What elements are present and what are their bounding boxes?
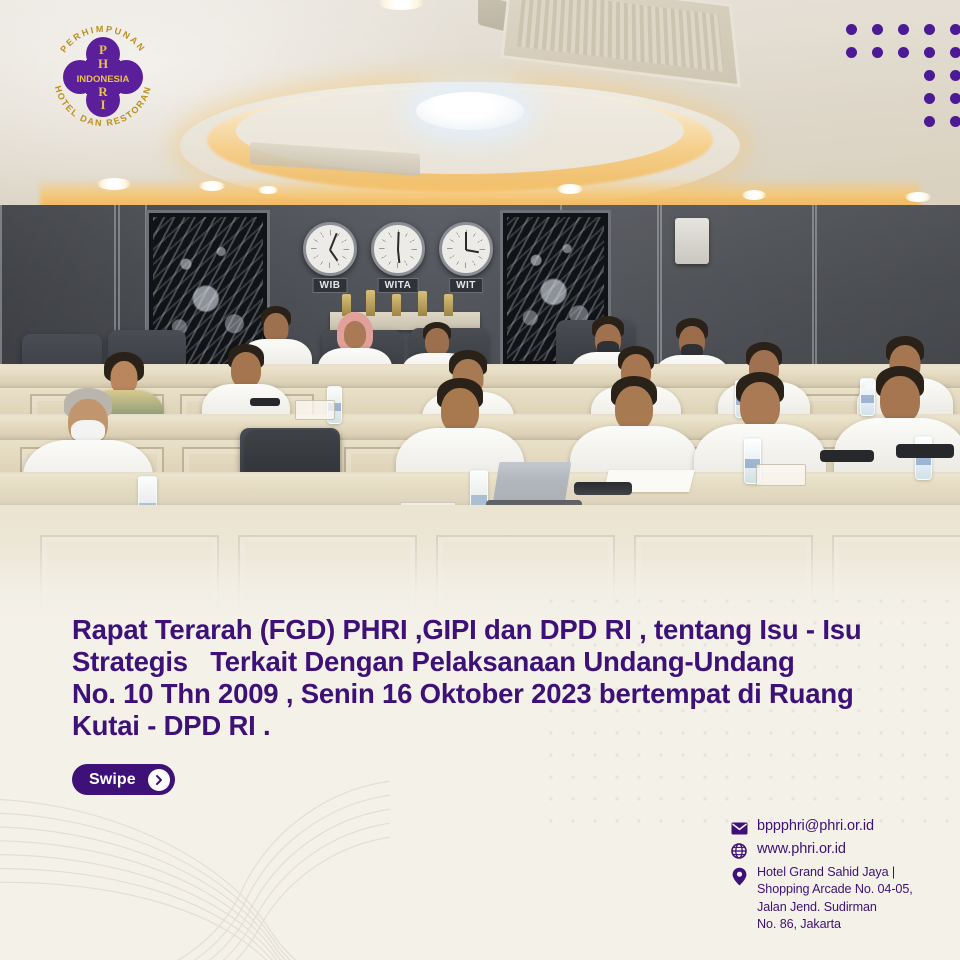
downlight bbox=[905, 192, 931, 202]
title-line: No. 10 Thn 2009 , Senin 16 Oktober 2023 … bbox=[72, 678, 902, 710]
clock-wib: WIB bbox=[303, 222, 357, 276]
background-swirl-pattern bbox=[0, 760, 390, 960]
trophy bbox=[366, 290, 375, 316]
clock-label: WIT bbox=[449, 278, 483, 293]
logo-letter-p: P bbox=[99, 42, 107, 57]
trophy bbox=[444, 294, 453, 316]
trophy bbox=[392, 294, 401, 316]
dot bbox=[950, 47, 960, 58]
dot bbox=[898, 47, 909, 58]
downlight bbox=[258, 186, 278, 194]
contact-email-text: bppphri@phri.or.id bbox=[757, 818, 874, 835]
head bbox=[615, 386, 653, 431]
title-line: Rapat Terarah (FGD) PHRI ,GIPI dan DPD R… bbox=[72, 614, 902, 646]
contact-info: bppphri@phri.or.id www.phri.or.id bbox=[730, 818, 950, 938]
microphone bbox=[250, 398, 280, 406]
clock-face bbox=[371, 222, 425, 276]
address-line: No. 86, Jakarta bbox=[757, 917, 841, 931]
water-bottle bbox=[860, 378, 875, 416]
clock-wita: WITA bbox=[371, 222, 425, 276]
logo-letter-h: H bbox=[98, 56, 108, 71]
address-line: Jalan Jend. Sudirman bbox=[757, 900, 877, 914]
clock-face bbox=[303, 222, 357, 276]
minute-hand bbox=[465, 232, 467, 250]
wall-speaker bbox=[675, 218, 709, 264]
content-area: Rapat Terarah (FGD) PHRI ,GIPI dan DPD R… bbox=[0, 590, 960, 960]
clock-wit: WIT bbox=[439, 222, 493, 276]
title-line: Kutai - DPD RI . bbox=[72, 710, 902, 742]
clock-label: WIB bbox=[313, 278, 348, 293]
page-title: Rapat Terarah (FGD) PHRI ,GIPI dan DPD R… bbox=[72, 614, 902, 742]
downlight bbox=[742, 190, 766, 200]
ceiling-lamp bbox=[416, 92, 524, 130]
contact-email-row[interactable]: bppphri@phri.or.id bbox=[730, 818, 950, 837]
microphone bbox=[896, 444, 954, 458]
clock-face bbox=[439, 222, 493, 276]
dot bbox=[872, 24, 883, 35]
phri-logo: P H INDONESIA R I PERHIMPUNAN HOTEL DAN … bbox=[44, 18, 162, 136]
head bbox=[231, 352, 261, 388]
dot bbox=[872, 47, 883, 58]
face-mask bbox=[71, 420, 105, 442]
snack-box bbox=[295, 400, 335, 420]
dot bbox=[950, 93, 960, 104]
dot bbox=[924, 47, 935, 58]
envelope-icon bbox=[730, 819, 748, 837]
social-media-poster: WIB WITA WIT bbox=[0, 0, 960, 960]
head bbox=[441, 388, 479, 433]
dot bbox=[846, 47, 857, 58]
ac-vent bbox=[500, 0, 741, 88]
swipe-button[interactable]: Swipe bbox=[72, 764, 175, 795]
head bbox=[344, 321, 366, 348]
clock-label: WITA bbox=[378, 278, 419, 293]
cove-light bbox=[40, 178, 920, 208]
contact-address-row: Hotel Grand Sahid Jaya | Shopping Arcade… bbox=[730, 864, 950, 934]
globe-icon bbox=[730, 842, 748, 860]
address-line: Shopping Arcade No. 04-05, bbox=[757, 882, 913, 896]
address-line: Hotel Grand Sahid Jaya | bbox=[757, 865, 895, 879]
map-pin-icon bbox=[730, 867, 748, 885]
dot bbox=[924, 24, 935, 35]
contact-website-text: www.phri.or.id bbox=[757, 841, 846, 858]
dot bbox=[950, 116, 960, 127]
dot bbox=[924, 116, 935, 127]
head bbox=[425, 328, 449, 356]
dot bbox=[846, 24, 857, 35]
chevron-right-icon bbox=[148, 769, 170, 791]
title-line: Strategis Terkait Dengan Pelaksanaan Und… bbox=[72, 646, 902, 678]
microphone bbox=[820, 450, 874, 462]
dot bbox=[924, 93, 935, 104]
dot bbox=[898, 24, 909, 35]
dot bbox=[950, 24, 960, 35]
contact-website-row[interactable]: www.phri.or.id bbox=[730, 841, 950, 860]
trophy bbox=[418, 291, 427, 316]
contact-address-text: Hotel Grand Sahid Jaya | Shopping Arcade… bbox=[757, 864, 913, 934]
dot bbox=[950, 70, 960, 81]
dot bbox=[924, 70, 935, 81]
downlight bbox=[97, 178, 131, 190]
logo-letter-i: I bbox=[100, 97, 105, 112]
downlight bbox=[199, 181, 225, 191]
swipe-button-label: Swipe bbox=[89, 771, 136, 789]
head bbox=[740, 382, 780, 429]
downlight bbox=[557, 184, 583, 194]
head bbox=[880, 376, 920, 423]
water-bottle bbox=[915, 436, 932, 480]
